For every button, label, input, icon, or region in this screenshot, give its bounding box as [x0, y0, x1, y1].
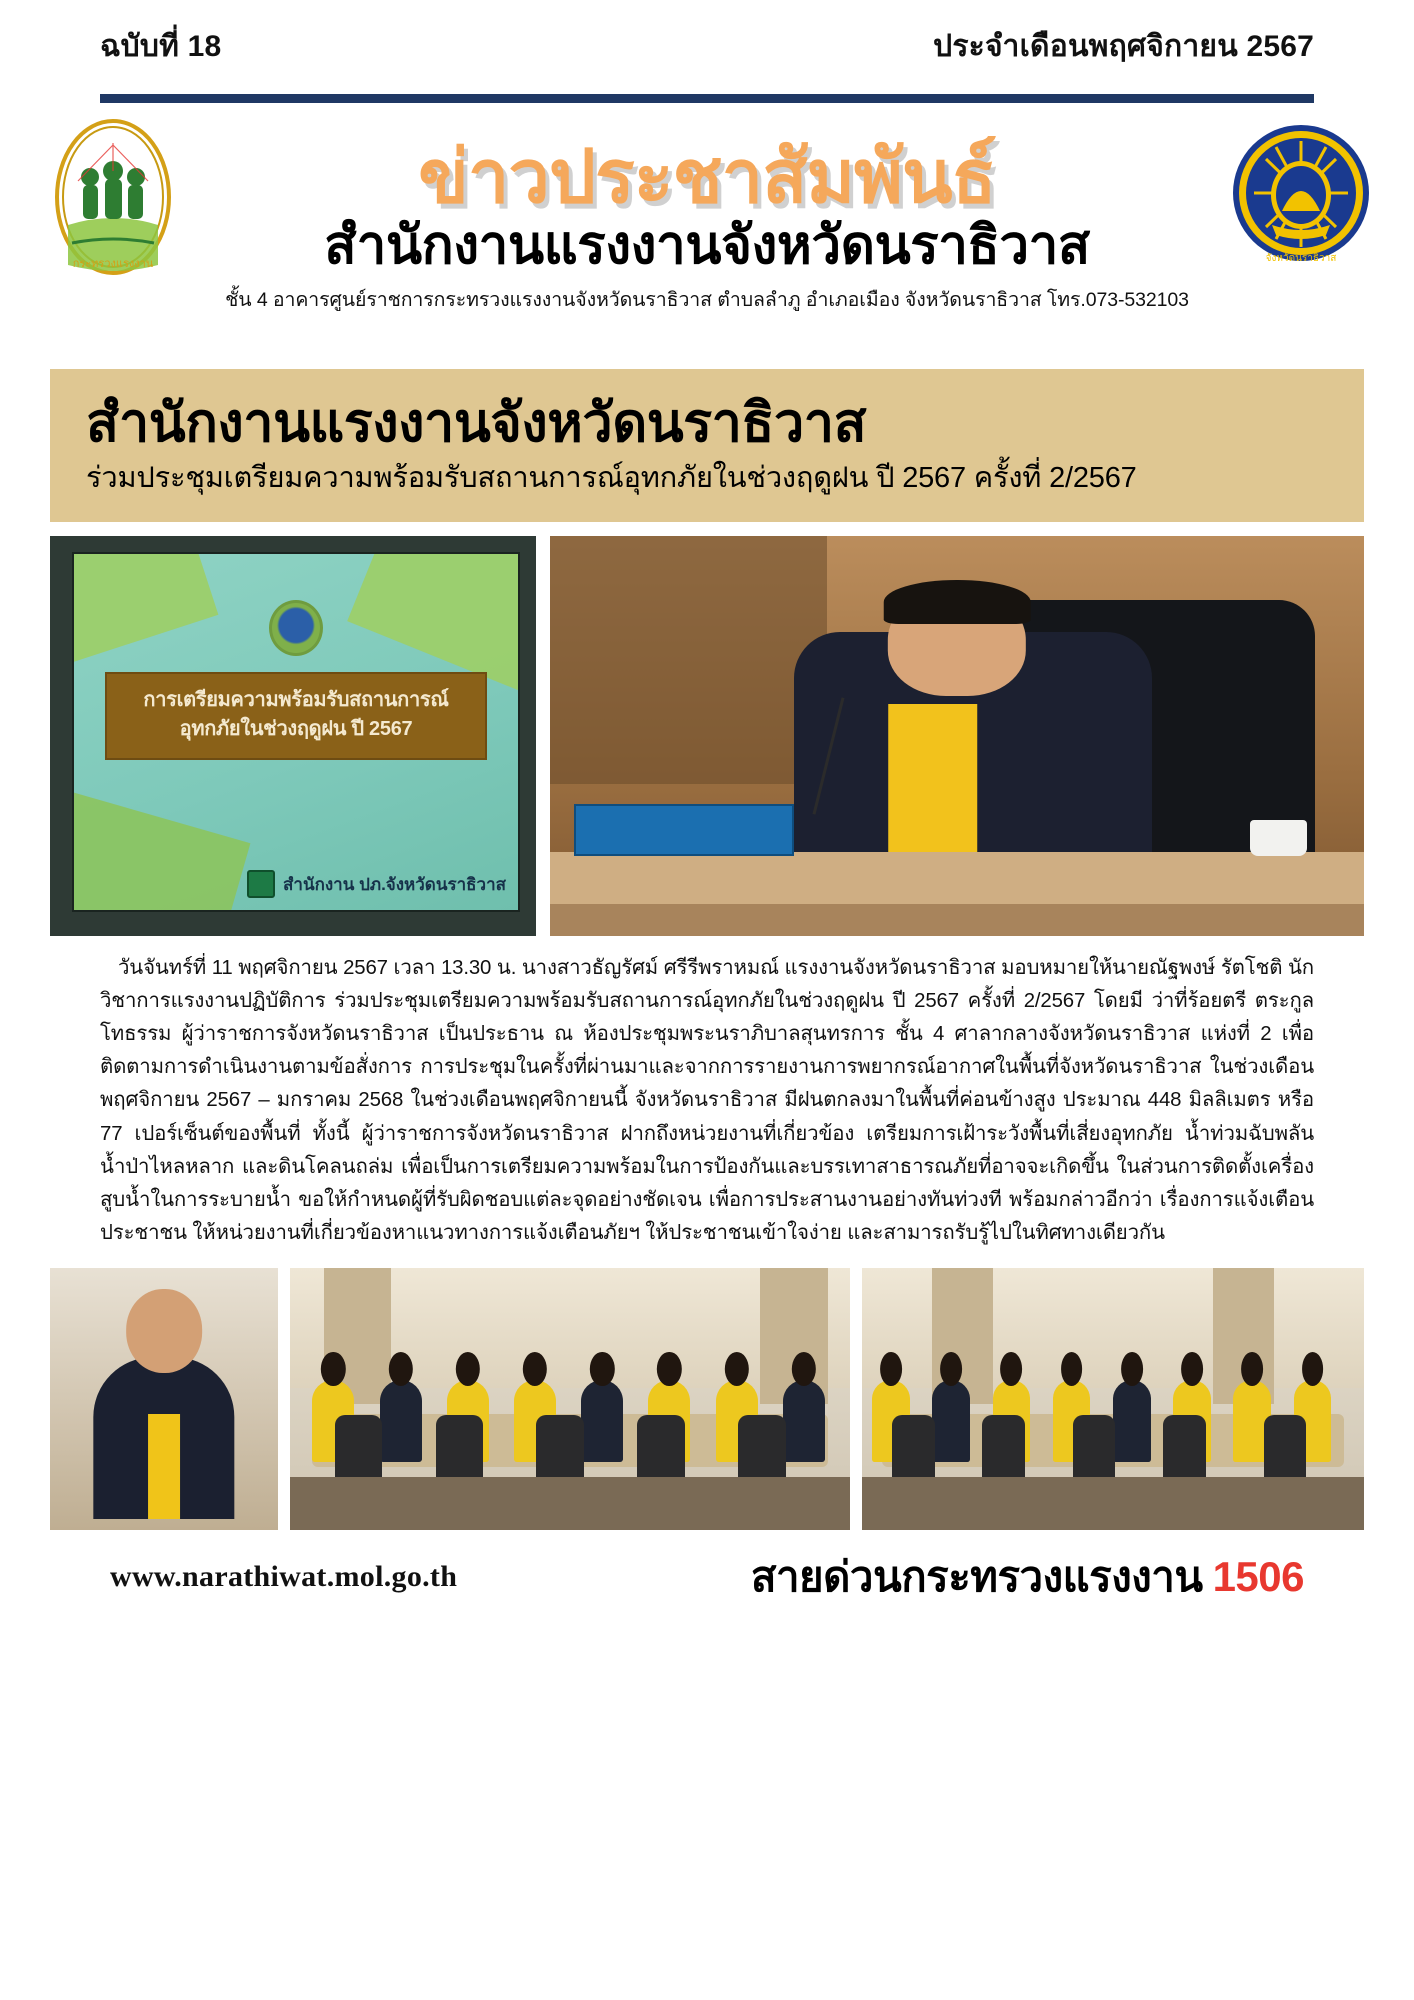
issue-number: ฉบับที่ 18	[100, 23, 221, 70]
svg-text:จังหวัดนราธิวาส: จังหวัดนราธิวาส	[1266, 253, 1337, 264]
chair	[738, 1415, 786, 1483]
scene-person-shirt	[888, 704, 978, 864]
chair	[1264, 1415, 1307, 1483]
headline-subtitle: ร่วมประชุมเตรียมความพร้อมรับสถานการณ์อุท…	[86, 461, 1328, 496]
article-body: วันจันทร์ที่ 11 พฤศจิกายน 2567 เวลา 13.3…	[100, 952, 1314, 1249]
slide-title-box: การเตรียมความพร้อมรับสถานการณ์ อุทกภัยใน…	[105, 672, 487, 760]
attendees-floor	[862, 1477, 1364, 1529]
photo-meeting-room-wide	[290, 1268, 850, 1530]
bottom-photo-strip	[50, 1268, 1364, 1530]
newsletter-page: ฉบับที่ 18 ประจำเดือนพฤศจิกายน 2567	[0, 0, 1414, 2000]
website-url[interactable]: www.narathiwat.mol.go.th	[110, 1560, 457, 1594]
slide-caption-line2: อุทกภัยในช่วงฤดูฝน ปี 2567	[117, 715, 475, 744]
portrait-scene	[50, 1268, 278, 1530]
slide-footer-text: สำนักงาน ปภ.จังหวัดนราธิวาส	[283, 871, 506, 898]
chair	[1073, 1415, 1116, 1483]
slide-footer: สำนักงาน ปภ.จังหวัดนราธิวาส	[247, 870, 506, 898]
office-name: สำนักงานแรงงานจังหวัดนราธิวาส	[220, 217, 1194, 274]
office-address: ชั้น 4 อาคารศูนย์ราชการกระทรวงแรงงานจังห…	[220, 284, 1194, 315]
chair	[982, 1415, 1025, 1483]
chair	[335, 1415, 383, 1483]
hotline-number: 1506	[1213, 1553, 1304, 1600]
narathiwat-province-emblem: จังหวัดนราธิวาส	[1226, 115, 1376, 280]
projector-screen-frame: การเตรียมความพร้อมรับสถานการณ์ อุทกภัยใน…	[50, 536, 536, 936]
photo-governor-speaking	[550, 536, 1364, 936]
photo-meeting-attendees	[862, 1268, 1364, 1530]
headline-band: สำนักงานแรงงานจังหวัดนราธิวาส ร่วมประชุม…	[50, 369, 1364, 522]
projector-screen: การเตรียมความพร้อมรับสถานการณ์ อุทกภัยใน…	[72, 552, 520, 912]
attendees-scene	[862, 1268, 1364, 1530]
ministry-of-labour-emblem: กระทรวงแรงงาน	[38, 115, 188, 290]
slide-caption-line1: การเตรียมความพร้อมรับสถานการณ์	[117, 686, 475, 715]
meeting-room-chairs	[290, 1388, 850, 1482]
hotline-label: สายด่วนกระทรวงแรงงาน	[751, 1553, 1203, 1600]
portrait-shirt	[148, 1414, 180, 1519]
attendees-chairs	[862, 1388, 1364, 1482]
masthead-text: ข่าวประชาสัมพันธ์ สำนักงานแรงงานจังหวัดน…	[100, 139, 1314, 315]
hotline: สายด่วนกระทรวงแรงงาน1506	[751, 1544, 1304, 1610]
slide-decor-top-left	[72, 552, 218, 667]
slide-decor-bottom-left	[72, 783, 250, 912]
photo-presentation-slide: การเตรียมความพร้อมรับสถานการณ์ อุทกภัยใน…	[50, 536, 536, 936]
headline-title: สำนักงานแรงงานจังหวัดนราธิวาส	[86, 393, 1328, 453]
masthead: กระทรวงแรงงาน ข่าวประชาสัมพันธ์ สำนักงาน…	[100, 107, 1314, 347]
dpm-logo-icon	[247, 870, 275, 898]
speaker-scene	[550, 536, 1364, 936]
issue-month: ประจำเดือนพฤศจิกายน 2567	[933, 23, 1314, 70]
chair	[536, 1415, 584, 1483]
scene-cup	[1250, 820, 1307, 856]
scene-desk-front	[550, 904, 1364, 936]
svg-text:กระทรวงแรงงาน: กระทรวงแรงงาน	[73, 257, 154, 270]
hero-photo-row: การเตรียมความพร้อมรับสถานการณ์ อุทกภัยใน…	[50, 536, 1364, 936]
article-paragraph-text: วันจันทร์ที่ 11 พฤศจิกายน 2567 เวลา 13.3…	[100, 957, 1314, 1243]
photo-officer-portrait	[50, 1268, 278, 1530]
header-divider	[100, 94, 1314, 103]
slide-province-seal-icon	[269, 600, 323, 656]
top-bar: ฉบับที่ 18 ประจำเดือนพฤศจิกายน 2567	[100, 0, 1314, 70]
chair	[436, 1415, 484, 1483]
chair	[892, 1415, 935, 1483]
footer: www.narathiwat.mol.go.th สายด่วนกระทรวงแ…	[100, 1530, 1314, 1610]
publication-title: ข่าวประชาสัมพันธ์	[220, 139, 1194, 214]
scene-nameplate	[574, 804, 794, 856]
chair	[637, 1415, 685, 1483]
scene-wall-panel	[550, 536, 827, 784]
meeting-room-scene	[290, 1268, 850, 1530]
meeting-room-floor	[290, 1477, 850, 1529]
chair	[1163, 1415, 1206, 1483]
scene-person-hair	[884, 580, 1031, 624]
article-paragraph: วันจันทร์ที่ 11 พฤศจิกายน 2567 เวลา 13.3…	[100, 952, 1314, 1249]
